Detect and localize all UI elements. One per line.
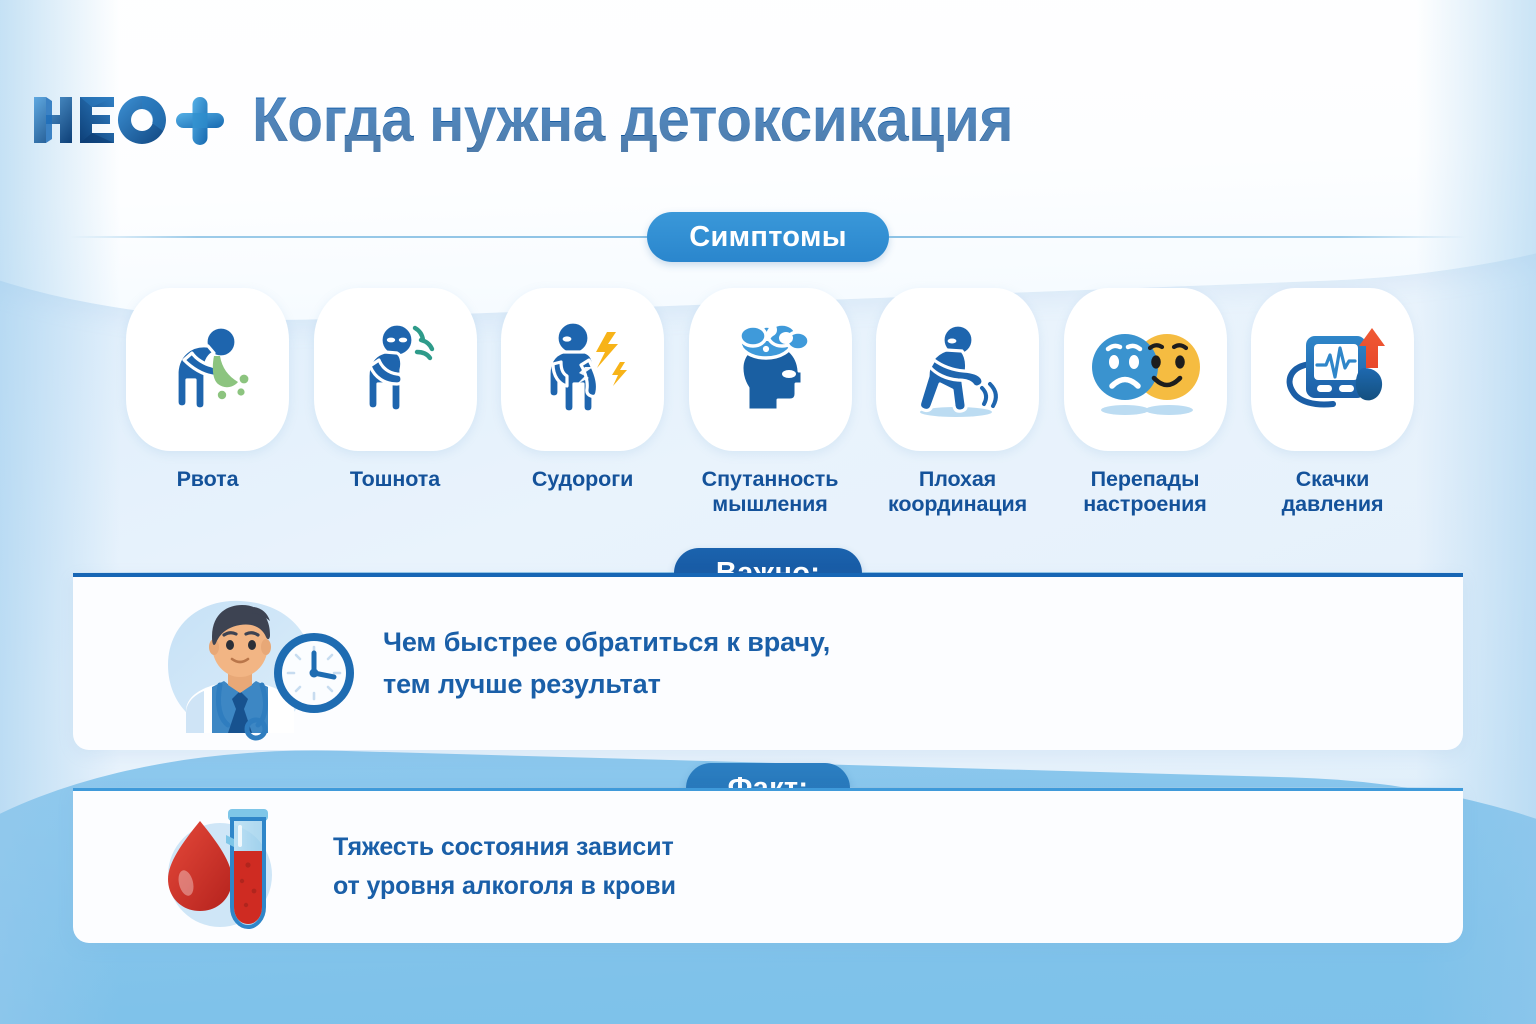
symptom-label: Спутанностьмышления xyxy=(702,467,839,518)
divider-line-right xyxy=(889,236,1466,238)
fact-text-line-2: от уровня алкоголя в крови xyxy=(333,867,676,906)
symptom-card xyxy=(689,288,852,451)
important-text-line-2: тем лучше результат xyxy=(383,664,830,706)
neo-plus-logo xyxy=(30,92,230,148)
person-vomiting-icon xyxy=(148,310,268,430)
symptom-list: Рвота xyxy=(120,288,1420,533)
symptom-label: Судороги xyxy=(532,467,633,492)
important-text-line-1: Чем быстрее обратиться к врачу, xyxy=(383,622,830,664)
symptom-label: Тошнота xyxy=(350,467,440,492)
blood-pressure-monitor-icon xyxy=(1273,310,1393,430)
symptom-label: Плохаякоординация xyxy=(888,467,1027,518)
symptom-label: Перепадынастроения xyxy=(1083,467,1206,518)
symptom-item-vomiting[interactable]: Рвота xyxy=(120,288,295,533)
doctor-with-clock-illustration xyxy=(128,585,368,745)
fact-panel: Тяжесть состояния зависит от уровня алко… xyxy=(73,788,1463,943)
symptom-card xyxy=(1064,288,1227,451)
symptom-item-blood-pressure[interactable]: Скачкидавления xyxy=(1245,288,1420,533)
blood-drop-test-tube-illustration xyxy=(128,791,328,943)
symptom-item-mood-swings[interactable]: Перепадынастроения xyxy=(1058,288,1233,533)
page-header: Когда нужна детоксикация xyxy=(0,72,1536,168)
divider-line-left xyxy=(70,236,647,238)
section-heading-symptoms: Симптомы xyxy=(70,212,1466,262)
symptom-card xyxy=(126,288,289,451)
sad-happy-faces-icon xyxy=(1081,310,1209,430)
symptom-card xyxy=(314,288,477,451)
symptom-item-coordination[interactable]: Плохаякоординация xyxy=(870,288,1045,533)
person-nausea-icon xyxy=(335,310,455,430)
symptom-card xyxy=(876,288,1039,451)
fact-text-line-1: Тяжесть состояния зависит xyxy=(333,828,676,867)
symptom-item-confusion[interactable]: Спутанностьмышления xyxy=(683,288,858,533)
symptom-label: Скачкидавления xyxy=(1282,467,1384,518)
head-thought-cloud-question-icon xyxy=(710,310,830,430)
person-stumbling-icon xyxy=(898,310,1018,430)
symptom-item-nausea[interactable]: Тошнота xyxy=(308,288,483,533)
symptom-item-cramps[interactable]: Судороги xyxy=(495,288,670,533)
infographic-page: Когда нужна детоксикация Симптомы xyxy=(0,0,1536,1024)
person-cramps-lightning-icon xyxy=(523,310,643,430)
badge-symptoms: Симптомы xyxy=(647,212,889,262)
page-title: Когда нужна детоксикация xyxy=(252,89,1013,152)
symptom-card xyxy=(501,288,664,451)
symptom-label: Рвота xyxy=(177,467,239,492)
symptom-card xyxy=(1251,288,1414,451)
important-panel: Чем быстрее обратиться к врачу, тем лучш… xyxy=(73,573,1463,750)
